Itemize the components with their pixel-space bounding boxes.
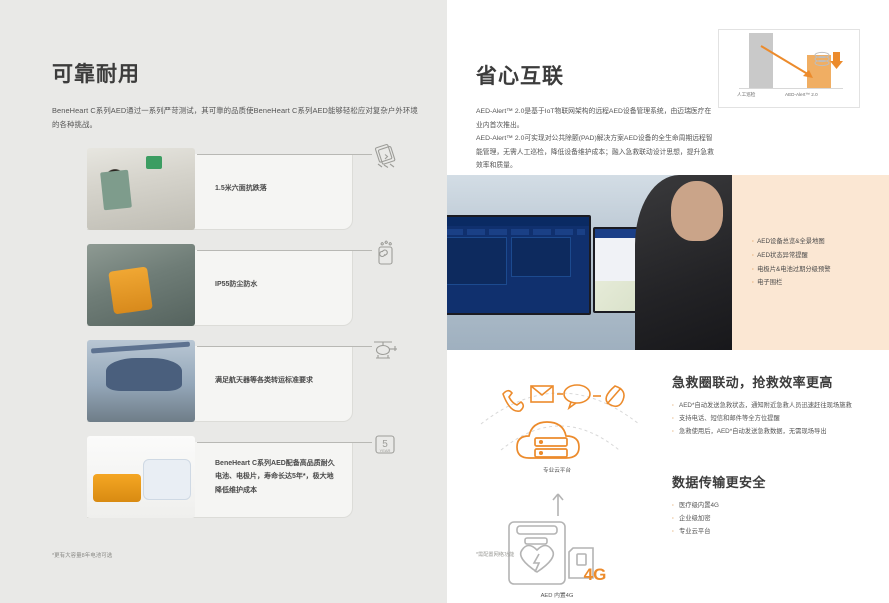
phone-icon [503, 391, 523, 411]
chart-tick-label: 人工巡检 [737, 92, 755, 98]
card-label: 1.5米六面抗跌落 [215, 148, 340, 230]
leaf-icon [606, 386, 624, 406]
helicopter-icon [370, 334, 400, 364]
list-item: 支持电话、短信和邮件等全方位提醒 [672, 413, 877, 425]
list-item: 医疗级内置4G [672, 500, 877, 512]
sim-4g-badge: 4G [584, 565, 607, 584]
aed-device-with-4g-icon: 4G [495, 492, 621, 592]
emergency-network-title: 急救圈联动，抢救效率更高 [672, 372, 877, 391]
dashboard-bar-chart-widget [511, 237, 571, 277]
list-item: AED状态异常提醒 [752, 249, 889, 263]
cost-savings-icon [813, 48, 843, 76]
drop-test-icon [370, 142, 400, 172]
helicopter-medical-transport-photo [87, 340, 195, 422]
cloud-shape [517, 422, 579, 458]
chart-plot-area [733, 40, 849, 89]
list-item: AED*自动发送急救状态，通知附近急救人员迅速赶往现场施救 [672, 400, 877, 412]
list-item[interactable]: 满足航天器等各类转运标准要求 [87, 340, 372, 422]
svg-text:YEAR: YEAR [380, 448, 391, 453]
five-year-badge-icon: 5 YEAR [370, 430, 400, 460]
man-installing-aed-cabinet-photo [87, 148, 195, 230]
left-panel: 可靠耐用 BeneHeart C系列AED通过一系列严苛测试，其可靠的品质使Be… [0, 0, 447, 603]
chart-x-tick-labels: 人工巡检 AED-Alert™ 2.0 [729, 92, 853, 102]
dashboard-feature-strip: AED设备总览&全景地图 AED状态异常提醒 电极片&电池过期分级预警 电子围栏 [447, 175, 889, 350]
list-item[interactable]: IP55防尘防水 [87, 244, 372, 326]
data-security-list: 医疗级内置4G 企业级加密 专业云平台 [672, 500, 877, 538]
monitor-left [447, 215, 591, 315]
list-item: 急救使用后，AED*自动发送急救数据，无需现场导出 [672, 426, 877, 438]
right-paragraph-1: AED-Alert™ 2.0是基于IoT物联网架构的远程AED设备管理系统，由迈… [476, 105, 716, 132]
cloud-platform-label: 专业云平台 [459, 466, 655, 474]
operator-dual-monitor-photo [447, 175, 732, 350]
left-footnote: *更有大容量8年电池可选 [52, 551, 112, 559]
chart-tick-label: AED-Alert™ 2.0 [785, 92, 818, 97]
list-item: 电子围栏 [752, 276, 889, 290]
aed-in-rain-photo [87, 244, 195, 326]
right-panel: 省心互联 AED-Alert™ 2.0是基于IoT物联网架构的远程AED设备管理… [447, 0, 889, 603]
list-item: 专业云平台 [672, 526, 877, 538]
feature-bullet-list: AED设备总览&全景地图 AED状态异常提醒 电极片&电池过期分级预警 电子围栏 [732, 175, 889, 350]
dashboard-kpi-tiles [447, 229, 585, 235]
connectivity-diagram: 专业云平台 4G AED 内置4G [459, 372, 659, 572]
right-footnote: *需配置网络功能 [476, 551, 514, 558]
waterproof-icon [370, 238, 400, 268]
left-intro-paragraph: BeneHeart C系列AED通过一系列严苛测试，其可靠的品质使BeneHea… [52, 104, 420, 131]
durability-card-list: 1.5米六面抗跌落 IP55防尘防水 [87, 148, 372, 532]
battery-and-pads-photo [87, 436, 195, 518]
list-item: 企业级加密 [672, 513, 877, 525]
card-label: 满足航天器等各类转运标准要求 [215, 340, 340, 422]
left-header: 可靠耐用 BeneHeart C系列AED通过一系列严苛测试，其可靠的品质使Be… [52, 58, 427, 131]
right-section-title: 省心互联 [476, 60, 716, 90]
cost-comparison-chart: 人工巡检 AED-Alert™ 2.0 [718, 29, 860, 108]
feature-text-column: 急救圈联动，抢救效率更高 AED*自动发送急救状态，通知附近急救人员迅速赶往现场… [672, 372, 877, 539]
list-item: AED设备总览&全景地图 [752, 235, 889, 249]
card-label: BeneHeart C系列AED配备高品质耐久电池、电极片，寿命长达5年*，极大… [215, 436, 340, 518]
list-item[interactable]: BeneHeart C系列AED配备高品质耐久电池、电极片，寿命长达5年*，极大… [87, 436, 372, 518]
list-item: 电极片&电池过期分级预警 [752, 263, 889, 277]
dashboard-map-widget [447, 237, 507, 285]
aed-device-label: AED 内置4G [459, 590, 655, 599]
cloud-platform-icon [467, 372, 653, 492]
brochure-page: 可靠耐用 BeneHeart C系列AED通过一系列严苛测试，其可靠的品质使Be… [0, 0, 889, 603]
operator-person [635, 175, 732, 350]
emergency-network-list: AED*自动发送急救状态，通知附近急救人员迅速赶往现场施救 支持电话、短信和邮件… [672, 400, 877, 438]
right-header: 省心互联 AED-Alert™ 2.0是基于IoT物联网架构的远程AED设备管理… [476, 60, 716, 173]
dashboard-header-bar [447, 217, 589, 226]
right-paragraph-2: AED-Alert™ 2.0可实现对公共除颤(PAD)解决方案AED设备的全生命… [476, 132, 716, 173]
upload-arrow-icon [553, 494, 563, 516]
card-label: IP55防尘防水 [215, 244, 340, 326]
data-security-title: 数据传输更安全 [672, 472, 877, 491]
list-item[interactable]: 1.5米六面抗跌落 [87, 148, 372, 230]
left-section-title: 可靠耐用 [52, 58, 427, 88]
